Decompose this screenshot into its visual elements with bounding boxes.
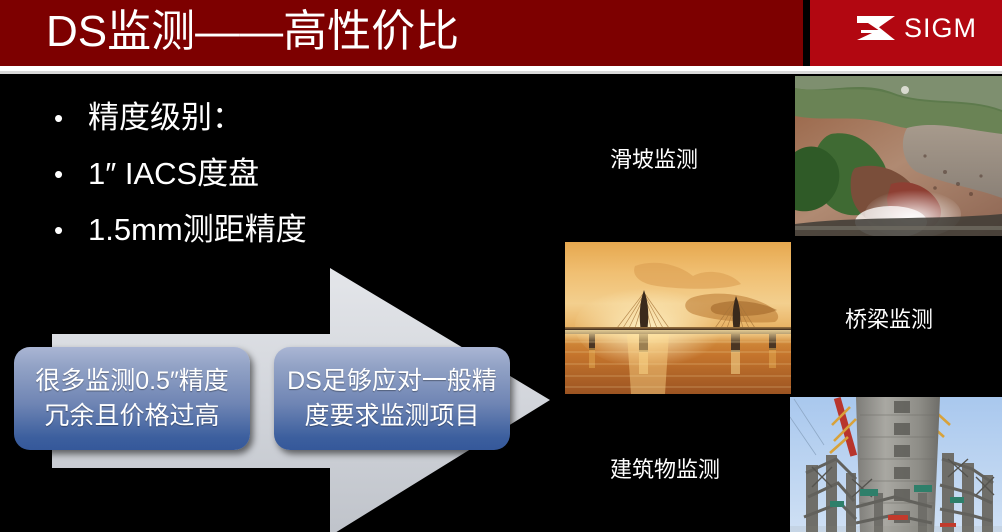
slide-canvas: DS监测——高性价比 SIGM • 精度级别： • 1″ IACS度盘 • 1.…: [0, 0, 1002, 532]
bullet-text: 精度级别：: [88, 98, 243, 138]
caption-landslide: 滑坡监测: [610, 145, 698, 175]
photo-landslide: [795, 76, 1002, 236]
bullet-text: 1″ IACS度盘: [88, 154, 259, 194]
photo-bridge: [565, 242, 791, 394]
brand-logo-text: SIGM: [904, 14, 977, 42]
page-title: DS监测——高性价比: [46, 2, 459, 62]
photo-building: [790, 397, 1002, 532]
callout-line-2: 度要求监测项目: [287, 399, 497, 434]
bullet-marker-icon: •: [46, 210, 88, 250]
caption-bridge: 桥梁监测: [845, 305, 933, 335]
brand-logo: SIGM: [855, 14, 977, 42]
callout-box-problem: 很多监测0.5″精度 冗余且价格过高: [14, 347, 250, 450]
callout-text: 很多监测0.5″精度 冗余且价格过高: [25, 364, 239, 434]
building-image: [790, 397, 1002, 532]
callout-text: DS足够应对一般精 度要求监测项目: [277, 364, 507, 434]
bridge-image: [565, 242, 791, 394]
bullet-marker-icon: •: [46, 154, 88, 194]
landslide-image: [795, 76, 1002, 236]
callout-line-2: 冗余且价格过高: [35, 399, 229, 434]
caption-building: 建筑物监测: [610, 455, 720, 485]
list-item: • 精度级别：: [46, 98, 516, 138]
bullet-list: • 精度级别： • 1″ IACS度盘 • 1.5mm测距精度: [46, 98, 516, 266]
callout-box-solution: DS足够应对一般精 度要求监测项目: [274, 347, 510, 450]
sigma-arrow-mark-icon: [855, 14, 897, 42]
bullet-marker-icon: •: [46, 98, 88, 138]
callout-line-1: 很多监测0.5″精度: [35, 364, 229, 399]
list-item: • 1″ IACS度盘: [46, 154, 516, 194]
list-item: • 1.5mm测距精度: [46, 210, 516, 250]
header-underline-shadow: [0, 71, 1002, 74]
bullet-text: 1.5mm测距精度: [88, 210, 307, 250]
callout-line-1: DS足够应对一般精: [287, 364, 497, 399]
